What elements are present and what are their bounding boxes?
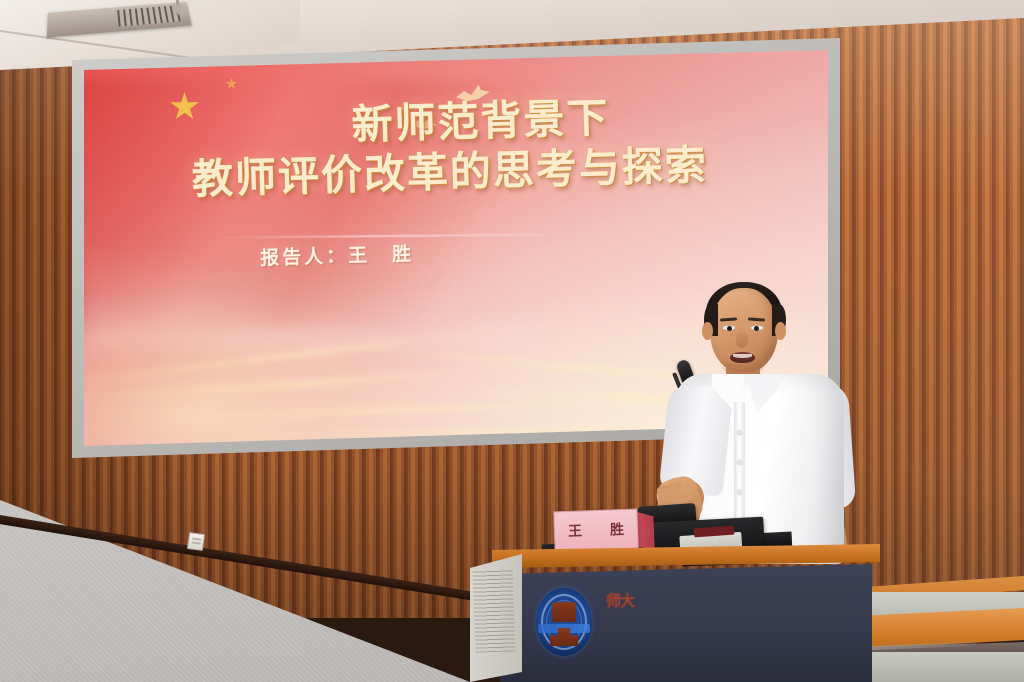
podium-front-panel: 师大 <box>500 564 872 682</box>
ceiling-seam <box>0 30 208 61</box>
pupil-left <box>727 326 732 331</box>
podium-logo-text: 师大 <box>606 590 634 611</box>
name-tent-card-face: 王 胜 <box>553 509 638 552</box>
wall-outlet <box>187 532 205 551</box>
chin-shadow <box>722 360 764 374</box>
podium: 王 胜 师大 <box>484 536 896 682</box>
podium-speaker-grille <box>473 569 516 652</box>
name-tent-card: 王 胜 <box>553 509 638 552</box>
slide-presenter-label: 报告人：王 胜 <box>84 234 590 275</box>
photo-scene: 新师范背景下 教师评价改革的思考与探索 报告人：王 胜 <box>0 0 1024 682</box>
sprinkler-head-icon <box>173 4 183 13</box>
university-emblem-icon <box>536 588 592 656</box>
vent-slats <box>117 5 181 26</box>
pupil-right <box>754 326 759 331</box>
ceiling-air-vent <box>47 2 192 38</box>
ear-right <box>775 322 786 340</box>
ear-left <box>702 322 713 340</box>
teeth <box>733 354 752 358</box>
emblem-glyph-top <box>552 602 576 622</box>
nose <box>736 332 748 348</box>
name-tent-card-text: 王 胜 <box>561 519 632 541</box>
